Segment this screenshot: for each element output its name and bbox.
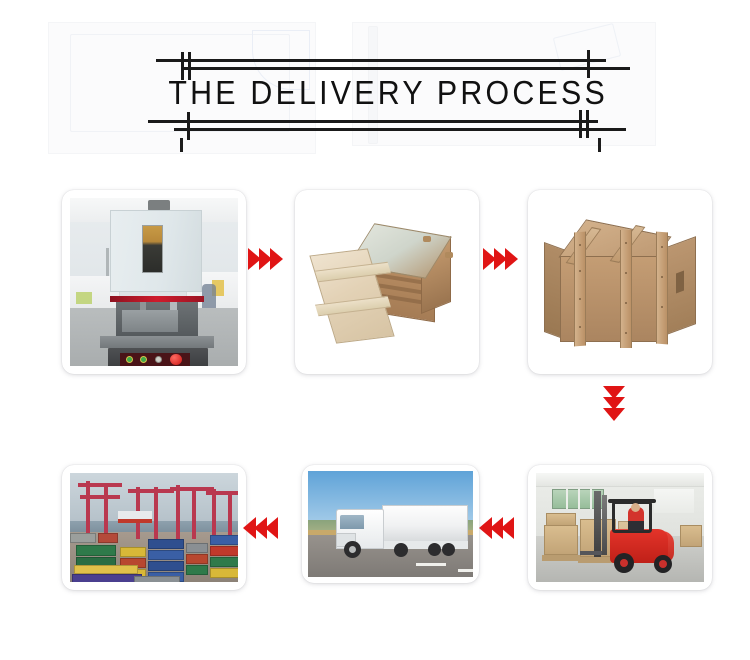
chevron-right-icon bbox=[270, 248, 283, 270]
photo-open-wooden-crate bbox=[303, 198, 471, 366]
arrow-sealed-crate-to-forklift bbox=[603, 386, 625, 419]
sealed-crate-batten bbox=[574, 231, 586, 346]
arrow-machine-to-open-crate bbox=[248, 248, 281, 270]
crate-knob bbox=[423, 236, 431, 242]
chevron-left-icon bbox=[265, 517, 278, 539]
pallet bbox=[542, 555, 582, 561]
crate-nail bbox=[625, 302, 627, 304]
window-mullion bbox=[566, 489, 568, 509]
step-card-forklift-loading[interactable] bbox=[528, 465, 712, 590]
shipping-container bbox=[98, 533, 118, 543]
crate-nail bbox=[579, 244, 581, 246]
header-rule-bottom-inner bbox=[174, 128, 626, 131]
crate-nail bbox=[579, 270, 581, 272]
shipping-container bbox=[120, 547, 146, 557]
gantry-crane-leg bbox=[86, 481, 90, 537]
cardboard-box bbox=[680, 525, 702, 547]
machine-key-switch bbox=[155, 356, 162, 363]
shipping-container bbox=[210, 535, 238, 545]
ghost-tick-right bbox=[598, 138, 601, 152]
machine-cabinet bbox=[110, 210, 202, 292]
road-lane-marking bbox=[458, 569, 473, 572]
crate-nail bbox=[661, 306, 663, 308]
shipping-container bbox=[72, 574, 142, 582]
machine-viewing-window bbox=[142, 225, 163, 273]
machine-green-button-1 bbox=[126, 356, 133, 363]
warehouse-ceiling bbox=[536, 473, 704, 487]
machine-control-box bbox=[108, 348, 208, 366]
machine-work-tray bbox=[122, 310, 178, 332]
truck-hubcap bbox=[349, 546, 356, 553]
header-rule-top-outer bbox=[156, 59, 606, 62]
gantry-crane-leg bbox=[104, 485, 108, 537]
header-tick-bottom-left bbox=[187, 112, 190, 140]
crate-nail bbox=[625, 272, 627, 274]
chevron-right-icon bbox=[505, 248, 518, 270]
forklift-front-hub bbox=[620, 559, 628, 567]
shipping-container bbox=[148, 550, 184, 560]
arrow-truck-to-port bbox=[245, 517, 278, 539]
window-mullion bbox=[590, 489, 592, 509]
shipping-container bbox=[186, 554, 208, 564]
port-cargo-ship bbox=[118, 511, 152, 523]
step-card-truck-transport[interactable] bbox=[302, 465, 479, 583]
gantry-crane-boom bbox=[128, 489, 174, 493]
sealed-crate-batten bbox=[656, 232, 668, 345]
truck-wheel bbox=[394, 543, 408, 557]
truck-wheel bbox=[442, 543, 455, 556]
step-card-laser-marking-machine[interactable] bbox=[62, 190, 246, 374]
forklift-mast-inner bbox=[602, 495, 607, 555]
arrow-forklift-to-truck bbox=[481, 517, 514, 539]
step-card-sealed-wooden-crate[interactable] bbox=[528, 190, 712, 374]
page-header: THE DELIVERY PROCESS bbox=[150, 52, 610, 138]
window-mullion bbox=[578, 489, 580, 509]
warehouse-light-window bbox=[654, 489, 694, 513]
shipping-container bbox=[186, 543, 208, 553]
machine-emergency-stop-button bbox=[170, 354, 182, 365]
chevron-left-icon bbox=[501, 517, 514, 539]
crate-nail bbox=[661, 246, 663, 248]
shipping-container bbox=[134, 576, 180, 582]
machine-control-panel bbox=[120, 353, 190, 366]
chevron-down-icon bbox=[603, 408, 625, 421]
road-lane-marking bbox=[416, 563, 446, 566]
forklift-mast bbox=[594, 491, 601, 557]
shipping-container bbox=[70, 533, 96, 543]
gantry-crane-boom bbox=[78, 483, 122, 487]
shipping-container bbox=[186, 565, 208, 575]
crate-nail bbox=[625, 242, 627, 244]
crate-nail bbox=[579, 326, 581, 328]
page-title: THE DELIVERY PROCESS bbox=[168, 70, 591, 116]
sealed-crate-handle bbox=[676, 271, 684, 294]
crate-nail bbox=[661, 276, 663, 278]
gantry-crane-tie bbox=[80, 495, 120, 499]
photo-forklift-loading bbox=[536, 473, 704, 582]
step-card-open-wooden-crate[interactable] bbox=[295, 190, 479, 374]
shipping-container bbox=[210, 546, 238, 556]
forklift-forks bbox=[580, 551, 602, 555]
lab-worker bbox=[202, 284, 216, 308]
arrow-open-crate-to-sealed-crate bbox=[483, 248, 516, 270]
gantry-crane-leg bbox=[176, 485, 180, 539]
forklift-rear-hub bbox=[659, 560, 667, 568]
shipping-container bbox=[76, 545, 116, 556]
sealed-crate-batten bbox=[620, 230, 632, 348]
photo-container-port bbox=[70, 473, 238, 582]
machine-green-button-2 bbox=[140, 356, 147, 363]
machine-base-plate bbox=[100, 336, 214, 348]
cardboard-box bbox=[544, 525, 578, 555]
lab-green-object bbox=[76, 292, 92, 304]
gantry-crane-leg bbox=[192, 489, 196, 539]
photo-truck-transport bbox=[308, 471, 473, 577]
crate-nail bbox=[579, 298, 581, 300]
photo-sealed-wooden-crate bbox=[536, 198, 704, 366]
crate-knob bbox=[445, 252, 453, 258]
ghost-tick-left bbox=[180, 138, 183, 152]
crate-nail bbox=[625, 332, 627, 334]
shipping-container bbox=[74, 565, 138, 574]
gantry-crane-leg bbox=[154, 487, 158, 539]
cardboard-box bbox=[546, 513, 576, 526]
shipping-container bbox=[210, 557, 238, 567]
gantry-crane-boom bbox=[206, 491, 238, 495]
photo-laser-marking-machine bbox=[70, 198, 238, 366]
header-rule-bottom-outer bbox=[148, 120, 598, 123]
shipping-container bbox=[210, 568, 238, 578]
shipping-container bbox=[148, 561, 184, 571]
truck-wheel bbox=[428, 543, 441, 556]
truck-windshield bbox=[340, 515, 364, 529]
gantry-crane-leg bbox=[228, 491, 232, 539]
shipping-container bbox=[148, 539, 184, 549]
forklift-driver-head bbox=[631, 503, 640, 512]
step-card-container-port[interactable] bbox=[62, 465, 246, 590]
gantry-crane-leg bbox=[212, 489, 216, 539]
truck-trailer bbox=[382, 505, 468, 543]
